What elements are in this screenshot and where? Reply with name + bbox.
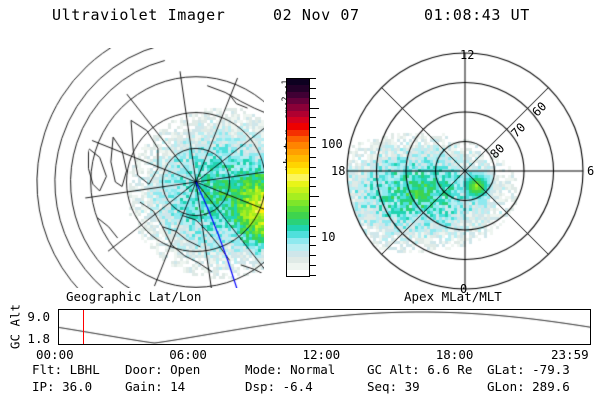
- status-gain: Gain: 14: [125, 379, 185, 395]
- colorbar-tick-7: [310, 147, 316, 148]
- apex-mlat-mlt-panel[interactable]: 12 18 6 0 60 70 80: [340, 46, 590, 296]
- colorbar-tick-12: [310, 196, 319, 197]
- colorbar-band-0: [287, 270, 309, 276]
- observation-time: 01:08:43 UT: [424, 4, 530, 26]
- orbit-xtick-1200: 12:00: [303, 349, 341, 361]
- colorbar-tick-19: [310, 265, 316, 266]
- orbit-xtick-2359: 23:59: [551, 349, 589, 361]
- mlt-label-18: 18: [331, 165, 345, 177]
- status-door: Door: Open: [125, 362, 200, 378]
- colorbar-tick-3: [310, 108, 319, 109]
- colorbar-tick-17: [310, 245, 316, 246]
- orbit-altitude-trace: [58, 309, 591, 345]
- status-seq: Seq: 39: [367, 379, 420, 395]
- colorbar-tick-0: [310, 78, 316, 79]
- mlt-label-6: 6: [587, 165, 594, 177]
- colorbar-tick-2: [310, 98, 316, 99]
- orbit-ytick-high: 9.0: [18, 311, 50, 323]
- geographic-panel-subtitle: Geographic Lat/Lon: [66, 291, 201, 303]
- apex-polar-dial[interactable]: [340, 46, 590, 296]
- colorbar-tick-8: [310, 157, 316, 158]
- orbit-time-cursor[interactable]: [83, 310, 84, 344]
- status-ip: IP: 36.0: [32, 379, 92, 395]
- instrument-title: Ultraviolet Imager: [52, 4, 225, 26]
- colorbar-tick-9: [310, 167, 316, 168]
- orbit-xtick-0600: 06:00: [169, 349, 207, 361]
- mlt-label-12: 12: [460, 49, 474, 61]
- status-flt: Flt: LBHL: [32, 362, 100, 378]
- orbit-xtick-0000: 00:00: [36, 349, 74, 361]
- colorbar-tick-13: [310, 206, 316, 207]
- colorbar-tick-1: [310, 88, 316, 89]
- geographic-image-panel[interactable]: [36, 48, 264, 288]
- colorbar-tick-10: [310, 177, 316, 178]
- colorbar-tick-11: [310, 186, 316, 187]
- orbit-y-axis-label: GC Alt: [8, 299, 23, 355]
- colorbar-tick-4: [310, 117, 316, 118]
- status-gc-alt: GC Alt: 6.6 Re: [367, 362, 472, 378]
- status-footer: Flt: LBHL IP: 36.0 Door: Open Gain: 14 M…: [0, 362, 600, 400]
- header-bar: Ultraviolet Imager 02 Nov 07 01:08:43 UT: [0, 4, 600, 30]
- colorbar-tick-20: [310, 275, 316, 276]
- colorbar-tick-6: [310, 137, 316, 138]
- colorbar-tick-16: [310, 236, 316, 237]
- status-glat: GLat: -79.3: [487, 362, 570, 378]
- orbit-altitude-panel[interactable]: GC Alt 9.0 1.8 00:0006:0012:0018:0023:59: [0, 305, 600, 355]
- orbit-xtick-1800: 18:00: [436, 349, 474, 361]
- colorbar-label-10: 10: [321, 231, 335, 243]
- orbit-ytick-low: 1.8: [18, 333, 50, 345]
- colorbar-tick-5: [310, 127, 316, 128]
- colorbar-tick-18: [310, 255, 316, 256]
- status-mode: Mode: Normal: [245, 362, 335, 378]
- status-glon: GLon: 289.6: [487, 379, 570, 395]
- observation-date: 02 Nov 07: [273, 4, 360, 26]
- colorbar-gradient: [286, 78, 310, 277]
- apex-panel-subtitle: Apex MLat/MLT: [404, 291, 502, 303]
- geographic-aurora-image[interactable]: [36, 48, 264, 288]
- colorbar-tick-15: [310, 226, 316, 227]
- colorbar-tick-14: [310, 216, 316, 217]
- status-dsp: Dsp: -6.4: [245, 379, 313, 395]
